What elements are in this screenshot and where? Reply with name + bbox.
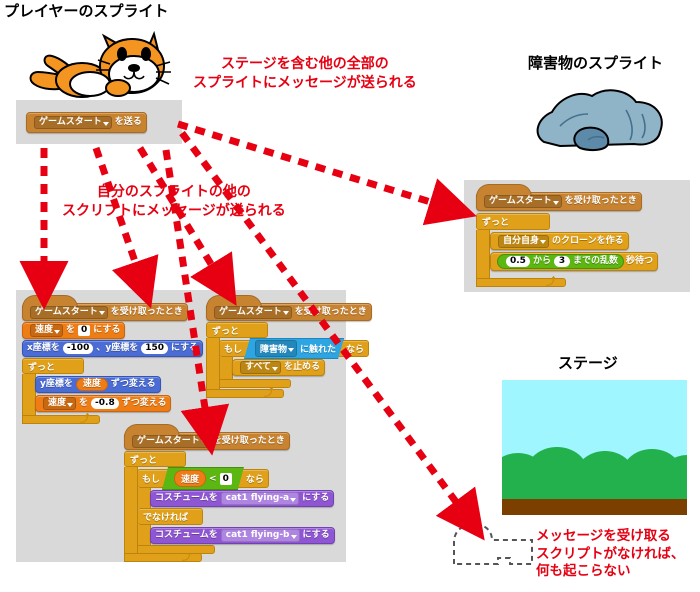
arrow-overlay — [0, 0, 700, 592]
arrow-to-obstacle — [178, 124, 450, 208]
arrow-to-stage — [182, 133, 468, 518]
arrow-to-script-b — [96, 148, 142, 282]
arrow-to-script-d — [166, 150, 208, 428]
arrow-group — [44, 124, 468, 518]
